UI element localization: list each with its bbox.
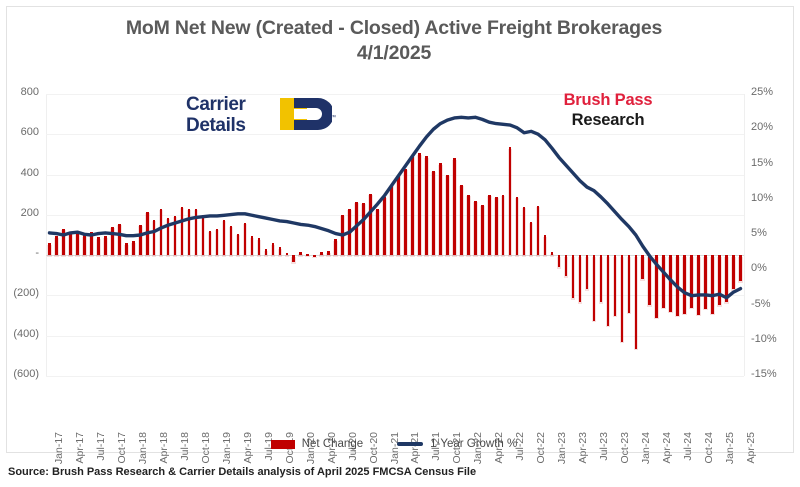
y-left-tick-label: 200 bbox=[21, 207, 39, 219]
y-left-tick-label: (400) bbox=[13, 328, 39, 340]
y-left-tick-label: (200) bbox=[13, 287, 39, 299]
y-left-tick-label: 400 bbox=[21, 167, 39, 179]
source-note: Source: Brush Pass Research & Carrier De… bbox=[8, 466, 476, 478]
chart-title-main: MoM Net New (Created - Closed) Active Fr… bbox=[126, 17, 662, 39]
line-series-growth bbox=[46, 94, 744, 376]
brush-pass-line2: Research bbox=[538, 110, 678, 130]
y-right-tick-label: 0% bbox=[751, 262, 767, 274]
carrier-details-line1: Carrier bbox=[186, 94, 246, 115]
legend-item-net-change: Net Change bbox=[271, 438, 363, 450]
chart-page: MoM Net New (Created - Closed) Active Fr… bbox=[0, 0, 800, 487]
y-right-tick-label: 10% bbox=[751, 192, 773, 204]
gridline bbox=[46, 376, 744, 377]
legend-label-growth: 1-Year Growth % bbox=[430, 438, 517, 450]
carrier-details-tm: ™ bbox=[330, 115, 336, 121]
legend-item-growth: 1-Year Growth % bbox=[397, 438, 517, 450]
y-right-tick-label: -5% bbox=[751, 298, 771, 310]
y-left-tick-label: (600) bbox=[13, 368, 39, 380]
y-right-tick-label: 20% bbox=[751, 121, 773, 133]
chart-title: MoM Net New (Created - Closed) Active Fr… bbox=[40, 16, 748, 66]
y-left-tick-label: 800 bbox=[21, 86, 39, 98]
x-axis-labels: Jan-17Apr-17Jul-17Oct-17Jan-18Apr-18Jul-… bbox=[46, 378, 744, 434]
y-right-tick-label: 5% bbox=[751, 227, 767, 239]
carrier-details-wordmark: Carrier Details bbox=[186, 94, 246, 136]
y-right-tick-label: -10% bbox=[751, 333, 777, 345]
brush-pass-line1: Brush Pass bbox=[538, 90, 678, 110]
chart-legend: Net Change 1-Year Growth % bbox=[0, 438, 788, 450]
growth-line-path bbox=[49, 117, 740, 297]
y-right-tick-label: -15% bbox=[751, 368, 777, 380]
chart-subtitle: 4/1/2025 bbox=[40, 41, 748, 66]
y-right-tick-label: 25% bbox=[751, 86, 773, 98]
legend-swatch-line-icon bbox=[397, 442, 423, 446]
axis-line-right bbox=[744, 94, 745, 376]
legend-swatch-bar-icon bbox=[271, 440, 295, 449]
carrier-details-logo: Carrier Details ™ bbox=[186, 93, 336, 139]
y-left-tick-label: - bbox=[35, 247, 39, 259]
legend-label-net-change: Net Change bbox=[302, 438, 363, 450]
brush-pass-research-logo: Brush Pass Research bbox=[538, 90, 678, 134]
plot-area: 800600400200-(200)(400)(600)25%20%15%10%… bbox=[46, 94, 744, 376]
carrier-details-mark-icon bbox=[280, 95, 332, 133]
y-left-tick-label: 600 bbox=[21, 126, 39, 138]
carrier-details-line2: Details bbox=[186, 115, 246, 136]
y-right-tick-label: 15% bbox=[751, 157, 773, 169]
